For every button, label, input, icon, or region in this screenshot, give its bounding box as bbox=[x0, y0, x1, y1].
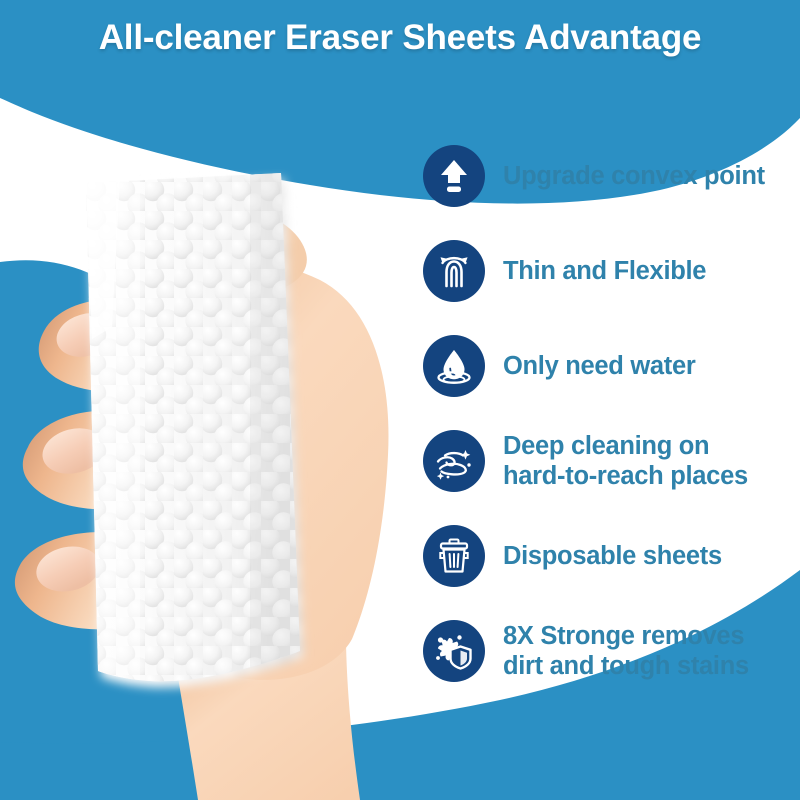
infographic-page: All-cleaner Eraser Sheets Advantage bbox=[0, 0, 800, 800]
feature-item-disposable-sheets: Disposable sheets bbox=[423, 508, 795, 603]
feature-label: 8X Stronge removes dirt and tough stains bbox=[503, 621, 749, 681]
water-drop-icon bbox=[423, 335, 485, 397]
feature-label-line1: Deep cleaning on bbox=[503, 432, 709, 460]
feature-label-line2: dirt and tough stains bbox=[503, 651, 749, 681]
feature-label-line2: hard-to-reach places bbox=[503, 461, 748, 491]
product-photo bbox=[0, 95, 420, 800]
trash-bin-icon bbox=[423, 525, 485, 587]
feature-label: Only need water bbox=[503, 351, 695, 381]
feature-label-line1: 8X Stronge removes bbox=[503, 622, 744, 650]
feature-label: Deep cleaning on hard-to-reach places bbox=[503, 431, 748, 491]
feature-list: Upgrade convex point Thin and Flexible bbox=[423, 128, 795, 698]
upward-arrow-icon bbox=[423, 145, 485, 207]
feature-item-deep-cleaning: Deep cleaning on hard-to-reach places bbox=[423, 413, 795, 508]
feature-item-only-need-water: Only need water bbox=[423, 318, 795, 413]
splash-shield-icon bbox=[423, 620, 485, 682]
feature-label: Thin and Flexible bbox=[503, 256, 706, 286]
feature-label: Upgrade convex point bbox=[503, 161, 765, 191]
flexible-bend-icon bbox=[423, 240, 485, 302]
feature-label-line1: Disposable sheets bbox=[503, 542, 722, 570]
feature-item-upgrade-convex-point: Upgrade convex point bbox=[423, 128, 795, 223]
feature-label: Disposable sheets bbox=[503, 541, 722, 571]
wiping-hand-sparkle-icon bbox=[423, 430, 485, 492]
feature-label-line1: Thin and Flexible bbox=[503, 257, 706, 285]
feature-label-line1: Upgrade convex point bbox=[503, 162, 765, 190]
feature-item-thin-and-flexible: Thin and Flexible bbox=[423, 223, 795, 318]
page-title: All-cleaner Eraser Sheets Advantage bbox=[0, 16, 800, 60]
feature-label-line1: Only need water bbox=[503, 352, 695, 380]
feature-item-8x-strong: 8X Stronge removes dirt and tough stains bbox=[423, 603, 795, 698]
